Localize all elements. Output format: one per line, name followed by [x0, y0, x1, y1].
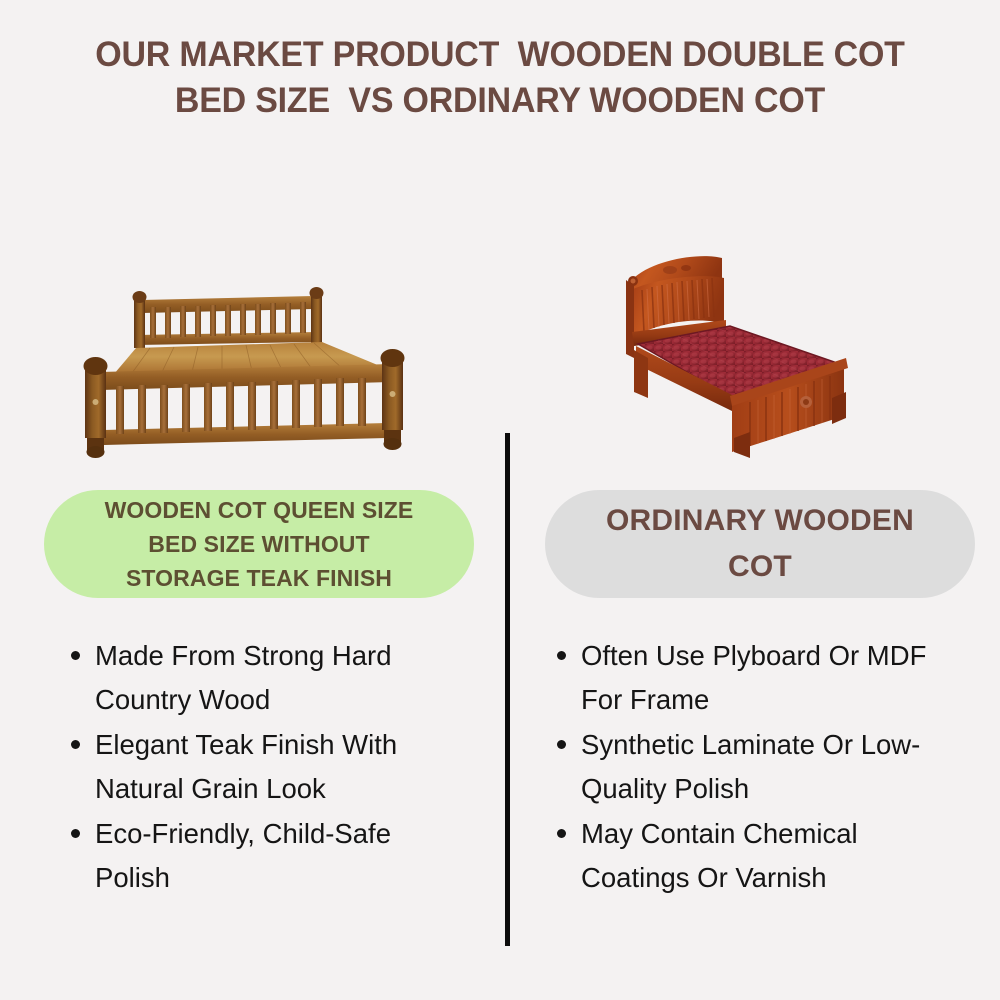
badge-right-line-2: COT	[606, 544, 914, 590]
badge-left-line-3: STORAGE TEAK FINISH	[105, 561, 414, 595]
wooden-cot-teak-image	[70, 262, 435, 467]
list-item-text: Made From Strong Hard Country Wood	[95, 634, 472, 722]
bullet-dot-icon	[557, 740, 566, 749]
list-item: Eco-Friendly, Child-Safe Polish	[62, 812, 472, 900]
badge-wooden-cot-queen: WOODEN COT QUEEN SIZE BED SIZE WITHOUT S…	[44, 490, 474, 598]
list-item-text: Elegant Teak Finish With Natural Grain L…	[95, 723, 472, 811]
badge-ordinary-wooden-cot: ORDINARY WOODEN COT	[545, 490, 975, 598]
badge-left-line-2: BED SIZE WITHOUT	[105, 527, 414, 561]
list-item: Elegant Teak Finish With Natural Grain L…	[62, 723, 472, 811]
list-item: Synthetic Laminate Or Low-Quality Polish	[548, 723, 968, 811]
column-divider	[505, 433, 510, 946]
list-item-text: Synthetic Laminate Or Low-Quality Polish	[581, 723, 968, 811]
bullet-dot-icon	[71, 829, 80, 838]
list-item: May Contain Chemical Coatings Or Varnish	[548, 812, 968, 900]
feature-list-right: Often Use Plyboard Or MDF For Frame Synt…	[548, 634, 968, 901]
list-item-text: Eco-Friendly, Child-Safe Polish	[95, 812, 472, 900]
comparison-column-right: ORDINARY WOODEN COT Often Use Plyboard O…	[500, 0, 1000, 1000]
bullet-dot-icon	[71, 651, 80, 660]
ordinary-wooden-cot-image	[600, 246, 920, 461]
comparison-column-left: WOODEN COT QUEEN SIZE BED SIZE WITHOUT S…	[0, 0, 500, 1000]
badge-left-line-1: WOODEN COT QUEEN SIZE	[105, 493, 414, 527]
feature-list-left: Made From Strong Hard Country Wood Elega…	[62, 634, 472, 901]
infographic-page: OUR MARKET PRODUCT WOODEN DOUBLE COT BED…	[0, 0, 1000, 1000]
list-item: Often Use Plyboard Or MDF For Frame	[548, 634, 968, 722]
bullet-dot-icon	[71, 740, 80, 749]
bullet-dot-icon	[557, 651, 566, 660]
list-item-text: May Contain Chemical Coatings Or Varnish	[581, 812, 968, 900]
bullet-dot-icon	[557, 829, 566, 838]
badge-right-line-1: ORDINARY WOODEN	[606, 498, 914, 544]
list-item-text: Often Use Plyboard Or MDF For Frame	[581, 634, 968, 722]
list-item: Made From Strong Hard Country Wood	[62, 634, 472, 722]
